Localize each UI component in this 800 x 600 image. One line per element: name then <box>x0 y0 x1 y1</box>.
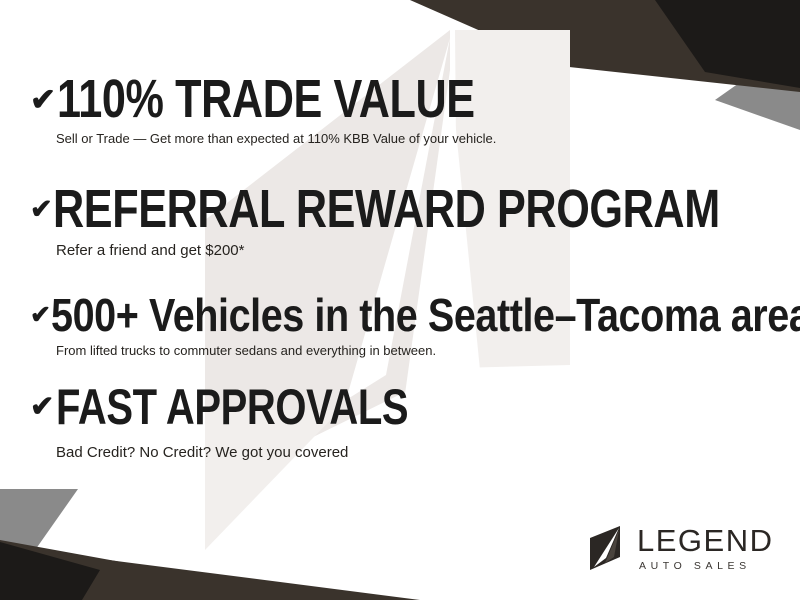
feature-subtext: Refer a friend and get $200* <box>56 242 780 260</box>
check-icon: ✔ <box>30 196 52 223</box>
feature-headline-text: 110% TRADE VALUE <box>57 72 475 126</box>
feature-list: ✔ 110% TRADE VALUE Sell or Trade — Get m… <box>0 0 800 600</box>
feature-headline: ✔ 110% TRADE VALUE <box>30 72 780 126</box>
feature-headline: ✔ FAST APPROVALS <box>30 382 780 432</box>
feature-headline: ✔ REFERRAL REWARD PROGRAM <box>30 182 780 236</box>
brand-logo: LEGEND AUTO SALES <box>586 524 773 572</box>
brand-tagline: AUTO SALES <box>639 561 773 572</box>
feature-row-trade-value: ✔ 110% TRADE VALUE Sell or Trade — Get m… <box>30 72 780 147</box>
feature-row-fast-approvals: ✔ FAST APPROVALS Bad Credit? No Credit? … <box>30 382 780 462</box>
feature-headline-text: REFERRAL REWARD PROGRAM <box>53 182 720 236</box>
feature-subtext: Sell or Trade — Get more than expected a… <box>56 131 780 147</box>
feature-headline-text: FAST APPROVALS <box>56 382 408 432</box>
check-icon: ✔ <box>30 303 50 328</box>
brand-name: LEGEND <box>637 525 773 556</box>
promotional-banner: ✔ 110% TRADE VALUE Sell or Trade — Get m… <box>0 0 800 600</box>
legend-shard-icon <box>586 524 628 572</box>
brand-wordmark: LEGEND AUTO SALES <box>637 525 773 572</box>
check-icon: ✔ <box>30 84 55 115</box>
check-icon: ✔ <box>30 393 54 422</box>
feature-row-referral-reward: ✔ REFERRAL REWARD PROGRAM Refer a friend… <box>30 182 780 260</box>
feature-headline-text: 500+ Vehicles in the Seattle–Tacoma area <box>51 292 800 338</box>
feature-subtext: Bad Credit? No Credit? We got you covere… <box>56 444 780 462</box>
feature-headline: ✔ 500+ Vehicles in the Seattle–Tacoma ar… <box>30 292 780 338</box>
feature-row-inventory-count: ✔ 500+ Vehicles in the Seattle–Tacoma ar… <box>30 292 780 359</box>
feature-subtext: From lifted trucks to commuter sedans an… <box>56 343 780 359</box>
